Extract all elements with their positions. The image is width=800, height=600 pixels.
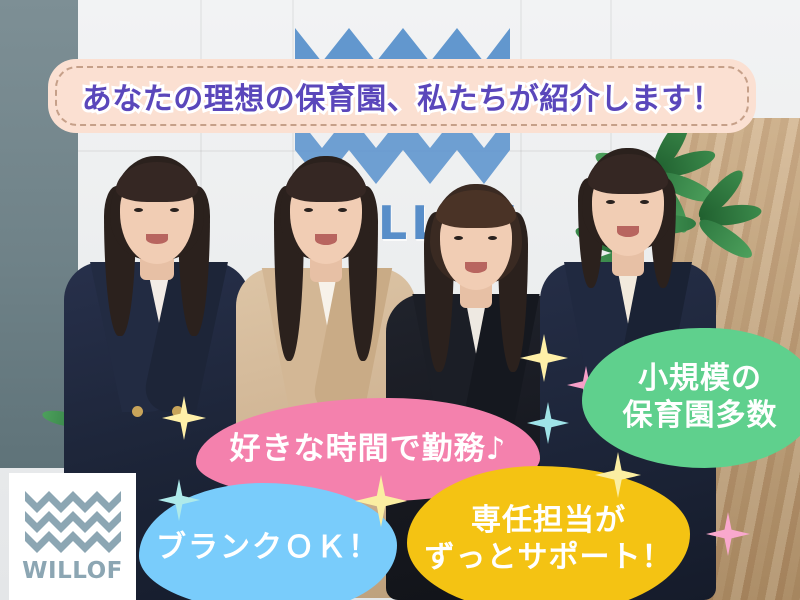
headline-banner: あなたの理想の保育園、私たちが紹介します！: [48, 59, 756, 133]
callout-blue-label: ブランクＯＫ！: [156, 530, 380, 567]
headline-text: あなたの理想の保育園、私たちが紹介します！: [82, 74, 723, 118]
chevron-waves-icon: [25, 489, 121, 553]
willof-logo-card: WILLOF: [9, 473, 136, 600]
callout-pink-label: 好きな時間で勤務♪: [230, 431, 507, 469]
callout-green-label: 小規模の 保育園多数: [623, 361, 778, 434]
advertisement-banner: WILLOF: [0, 0, 800, 600]
callout-yellow: 専任担当が ずっとサポート！: [407, 466, 690, 600]
callout-yellow-label: 専任担当が ずっとサポート！: [425, 503, 673, 576]
callout-green: 小規模の 保育園多数: [582, 328, 800, 468]
willof-wordmark: WILLOF: [22, 558, 123, 584]
